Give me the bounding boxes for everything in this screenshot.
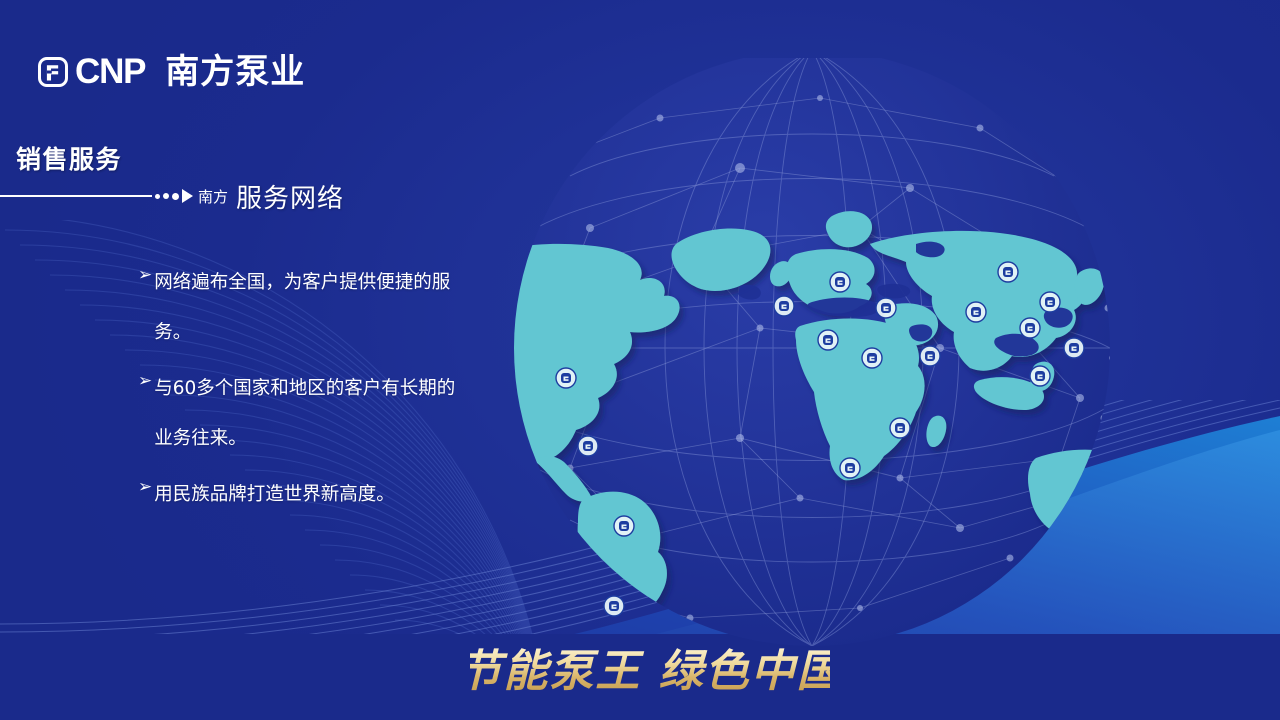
- slide-canvas: CNP 南方泵业 销售服务 南方 服务网络 ➢ 网络遍布全国，为客户提供便捷的服…: [0, 0, 1280, 720]
- brand-prefix-label: 南方: [198, 186, 228, 207]
- slogan-text: 节能泵王 绿色中国: [470, 646, 830, 697]
- cnp-monogram-icon: [38, 57, 68, 87]
- world-map-network-globe: [440, 58, 1230, 658]
- subtitle-label: 服务网络: [236, 178, 344, 215]
- list-item-text: 用民族品牌打造世界新高度。: [154, 470, 395, 520]
- list-item-text: 网络遍布全国，为客户提供便捷的服务。: [154, 258, 468, 358]
- three-dots-icon: [155, 193, 179, 200]
- bullet-marker-icon: ➢: [138, 364, 152, 398]
- bullet-marker-icon: ➢: [138, 470, 152, 504]
- list-item: ➢ 与60多个国家和地区的客户有长期的业务往来。: [138, 364, 468, 464]
- cnp-location-marker-group: [556, 262, 1084, 616]
- brand-logo: CNP 南方泵业: [38, 54, 305, 89]
- footer-slogan: 节能泵王 绿色中国: [470, 636, 830, 706]
- horizontal-rule: [0, 195, 152, 197]
- logo-chinese-text: 南方泵业: [165, 55, 305, 89]
- subtitle-row: 南方 服务网络: [0, 179, 470, 213]
- bullet-marker-icon: ➢: [138, 258, 152, 292]
- list-item: ➢ 用民族品牌打造世界新高度。: [138, 470, 468, 520]
- list-item-text: 与60多个国家和地区的客户有长期的业务往来。: [154, 364, 468, 464]
- logo-latin-text: CNP: [75, 54, 145, 89]
- page-title: 销售服务: [16, 140, 122, 176]
- list-item: ➢ 网络遍布全国，为客户提供便捷的服务。: [138, 258, 468, 358]
- play-triangle-icon: [182, 189, 193, 203]
- bullet-list: ➢ 网络遍布全国，为客户提供便捷的服务。 ➢ 与60多个国家和地区的客户有长期的…: [138, 258, 468, 526]
